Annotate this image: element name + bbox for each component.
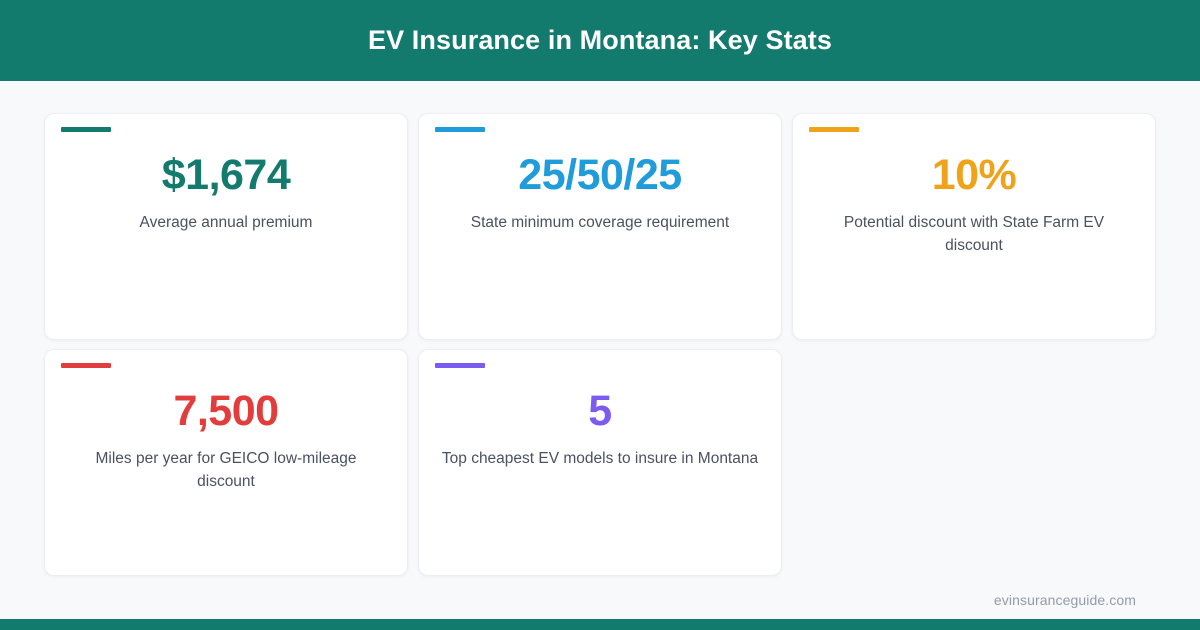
stat-value: $1,674 xyxy=(162,151,291,199)
page-title: EV Insurance in Montana: Key Stats xyxy=(368,25,832,56)
stat-card-cheapest-ev-models: 5 Top cheapest EV models to insure in Mo… xyxy=(418,349,782,576)
footer-watermark: evinsuranceguide.com xyxy=(994,592,1136,608)
page-header: EV Insurance in Montana: Key Stats xyxy=(0,0,1200,81)
stat-value: 5 xyxy=(588,387,611,435)
accent-bar-icon xyxy=(809,127,859,132)
accent-bar-icon xyxy=(435,127,485,132)
stats-row-top: $1,674 Average annual premium 25/50/25 S… xyxy=(44,113,1156,340)
stat-card-average-annual-premium: $1,674 Average annual premium xyxy=(44,113,408,340)
footer-accent-bar xyxy=(0,619,1200,630)
stat-label: Potential discount with State Farm EV di… xyxy=(814,211,1134,258)
stat-value: 25/50/25 xyxy=(518,151,681,199)
stat-card-state-farm-ev-discount: 10% Potential discount with State Farm E… xyxy=(792,113,1156,340)
accent-bar-icon xyxy=(61,127,111,132)
accent-bar-icon xyxy=(61,363,111,368)
stat-label: Top cheapest EV models to insure in Mont… xyxy=(442,447,758,470)
stat-label: Average annual premium xyxy=(140,211,313,234)
stat-card-state-minimum-coverage: 25/50/25 State minimum coverage requirem… xyxy=(418,113,782,340)
stat-label: State minimum coverage requirement xyxy=(471,211,729,234)
stats-card-grid: $1,674 Average annual premium 25/50/25 S… xyxy=(44,113,1156,585)
stat-value: 10% xyxy=(932,151,1017,199)
accent-bar-icon xyxy=(435,363,485,368)
stat-value: 7,500 xyxy=(173,387,278,435)
stat-card-geico-low-mileage: 7,500 Miles per year for GEICO low-milea… xyxy=(44,349,408,576)
stats-row-bottom: 7,500 Miles per year for GEICO low-milea… xyxy=(44,349,1156,576)
stat-label: Miles per year for GEICO low-mileage dis… xyxy=(66,447,386,494)
